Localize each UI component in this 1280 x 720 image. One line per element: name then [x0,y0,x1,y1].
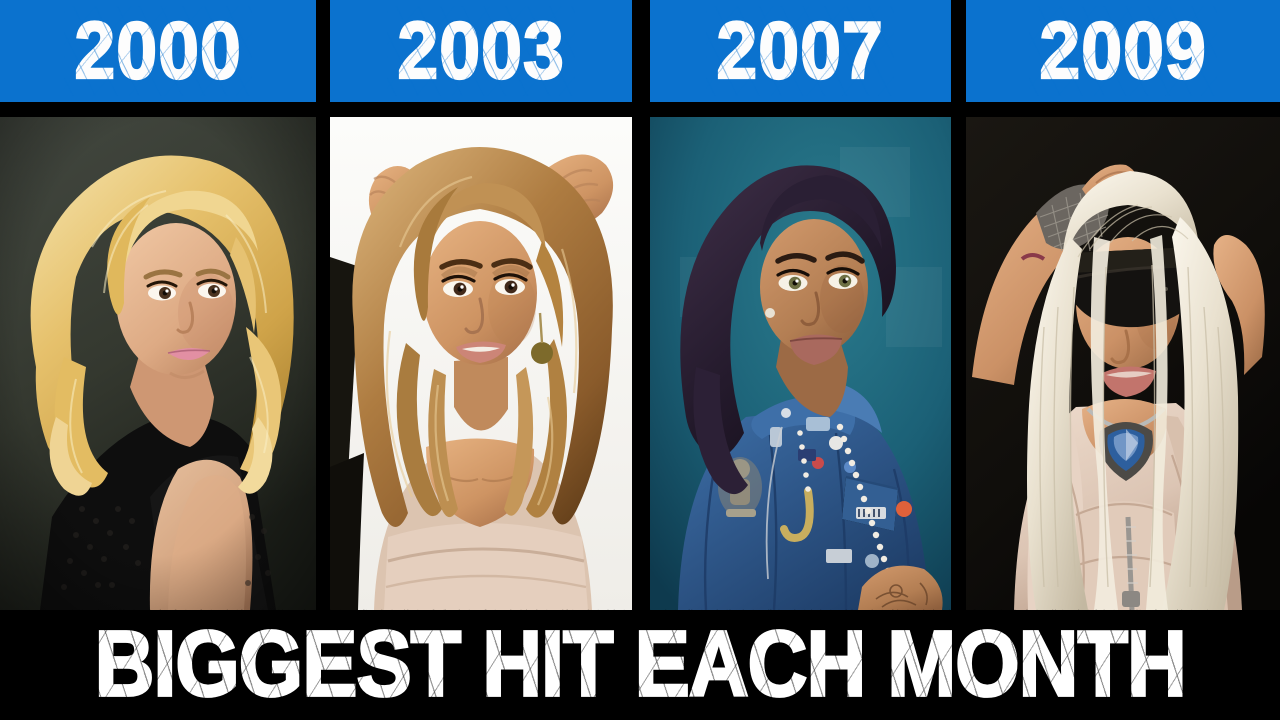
year-label: 2009 [1039,11,1206,92]
year-banner-2000: 2000 [0,0,316,102]
portrait-britney-spears [0,117,316,610]
year-banner-2007: 2007 [650,0,951,102]
portrait-lady-gaga [966,117,1280,610]
year-label: 2007 [717,11,884,92]
thumbnail-canvas: 2000 2003 2007 2009 [0,0,1280,720]
page-title: BIGGEST HIT EACH MONTH [94,619,1185,712]
portrait-illustration [0,117,316,610]
portrait-row [0,117,1280,610]
portrait-illustration [650,117,951,610]
portrait-rihanna [650,117,951,610]
year-banner-row: 2000 2003 2007 2009 [0,0,1280,102]
portrait-illustration [330,117,632,610]
year-banner-2009: 2009 [966,0,1280,102]
portrait-illustration [966,117,1280,610]
portrait-beyonce [330,117,632,610]
year-label: 2003 [397,11,564,92]
year-banner-2003: 2003 [330,0,632,102]
year-label: 2000 [74,11,241,92]
title-bar: BIGGEST HIT EACH MONTH [0,610,1280,720]
